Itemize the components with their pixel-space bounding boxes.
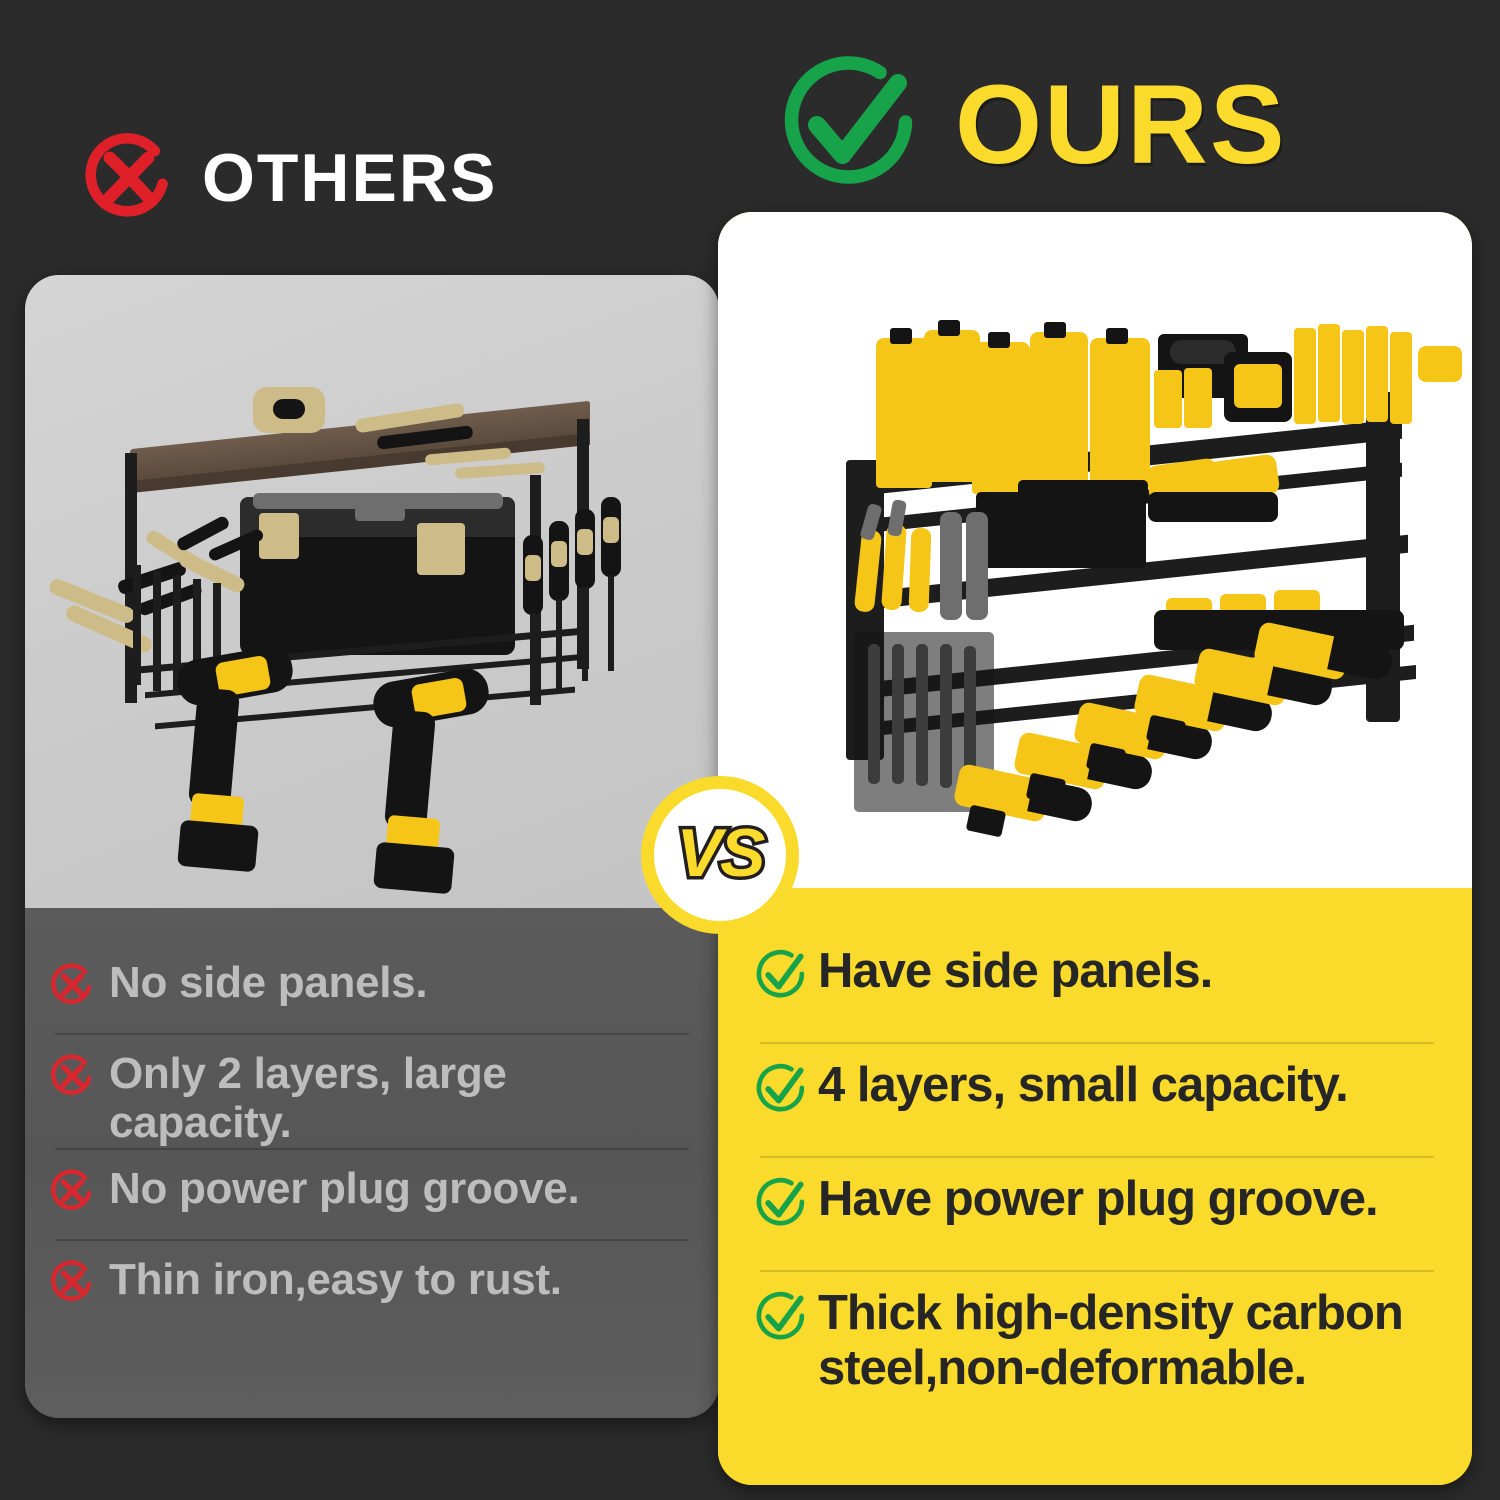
list-item-label: Only 2 layers, large capacity.: [109, 1049, 697, 1148]
circle-check-icon: [752, 946, 810, 1004]
circle-x-icon: [47, 1257, 97, 1307]
vs-badge: VS: [641, 776, 799, 934]
list-item-label: No power plug groove.: [109, 1164, 579, 1213]
list-item-label: Have power plug groove.: [818, 1172, 1378, 1227]
ours-feature-list: Have side panels. 4 layers, small capaci…: [718, 888, 1472, 1485]
list-item: Have side panels.: [752, 928, 1442, 1042]
circle-x-icon: [80, 130, 176, 226]
others-title: OTHERS: [202, 144, 497, 212]
list-item: No power plug groove.: [47, 1148, 697, 1239]
list-item-label: 4 layers, small capacity.: [818, 1058, 1348, 1113]
vs-label: VS: [677, 819, 764, 887]
others-panel: No side panels. Only 2 layers, large cap…: [25, 275, 719, 1418]
circle-x-icon: [47, 1051, 97, 1101]
list-item-label: Have side panels.: [818, 944, 1212, 999]
list-item: Only 2 layers, large capacity.: [47, 1033, 697, 1148]
others-product-photo: [25, 275, 719, 908]
others-feature-list: No side panels. Only 2 layers, large cap…: [25, 908, 719, 1418]
circle-check-icon: [775, 50, 925, 200]
ours-title: OURS: [955, 69, 1287, 181]
circle-x-icon: [47, 960, 97, 1010]
circle-check-icon: [752, 1174, 810, 1232]
list-item-label: Thin iron,easy to rust.: [109, 1255, 562, 1304]
list-item: Thick high-density carbon steel,non-defo…: [752, 1270, 1442, 1396]
list-item: Thin iron,easy to rust.: [47, 1239, 697, 1330]
list-item: No side panels.: [47, 942, 697, 1033]
ours-header: OURS: [775, 50, 1287, 200]
list-item-label: No side panels.: [109, 958, 427, 1007]
ours-product-photo: [718, 212, 1472, 888]
list-item-label: Thick high-density carbon steel,non-defo…: [818, 1286, 1442, 1396]
others-header: OTHERS: [80, 130, 497, 226]
comparison-infographic: OTHERS OURS: [0, 0, 1500, 1500]
list-item: Have power plug groove.: [752, 1156, 1442, 1270]
circle-check-icon: [752, 1288, 810, 1346]
ours-panel: Have side panels. 4 layers, small capaci…: [718, 212, 1472, 1485]
list-item: 4 layers, small capacity.: [752, 1042, 1442, 1156]
circle-check-icon: [752, 1060, 810, 1118]
circle-x-icon: [47, 1166, 97, 1216]
